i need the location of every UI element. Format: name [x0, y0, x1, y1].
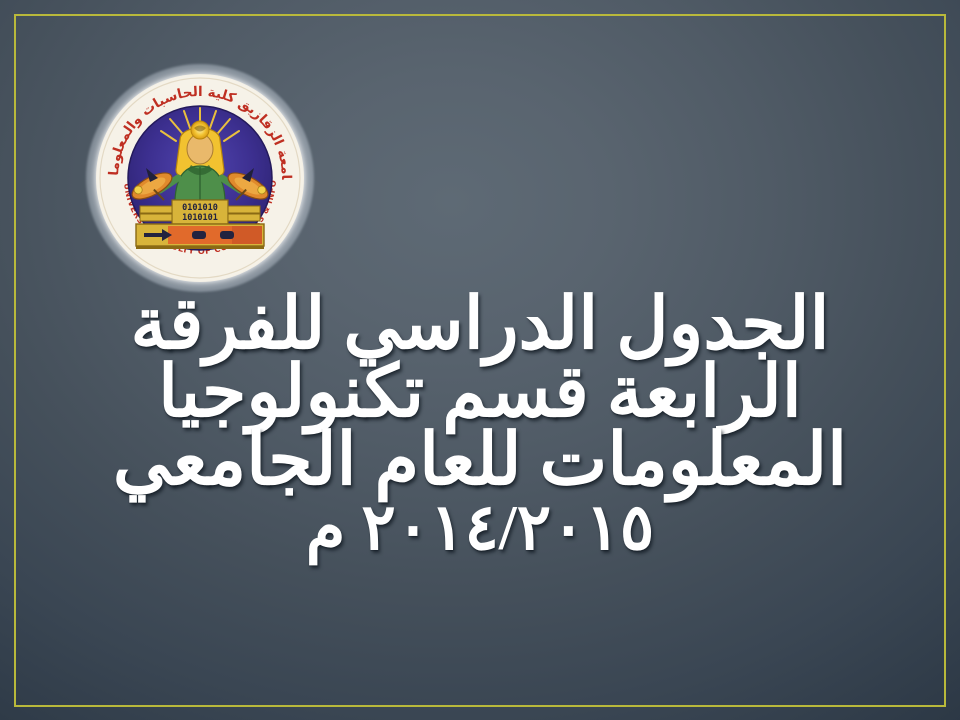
academic-year-date: ٢٠١٤/٢٠١٥ م [40, 496, 920, 560]
svg-text:0101010: 0101010 [182, 203, 218, 213]
title-line-2: الرابعة قسم تكنولوجيا [40, 356, 920, 428]
title-line-3: المعلومات للعام الجامعي [40, 424, 920, 496]
title-slide: جامعة الزقازيق كلية الحاسبات والمعلومات … [0, 0, 960, 720]
title-line-1: الجدول الدراسي للفرقة [40, 288, 920, 360]
svg-text:1010101: 1010101 [182, 213, 218, 223]
logo-badge-disc: جامعة الزقازيق كلية الحاسبات والمعلومات … [96, 74, 304, 282]
slide-title-block: الجدول الدراسي للفرقة الرابعة قسم تكنولو… [40, 288, 920, 560]
university-logo: جامعة الزقازيق كلية الحاسبات والمعلومات … [86, 64, 314, 292]
